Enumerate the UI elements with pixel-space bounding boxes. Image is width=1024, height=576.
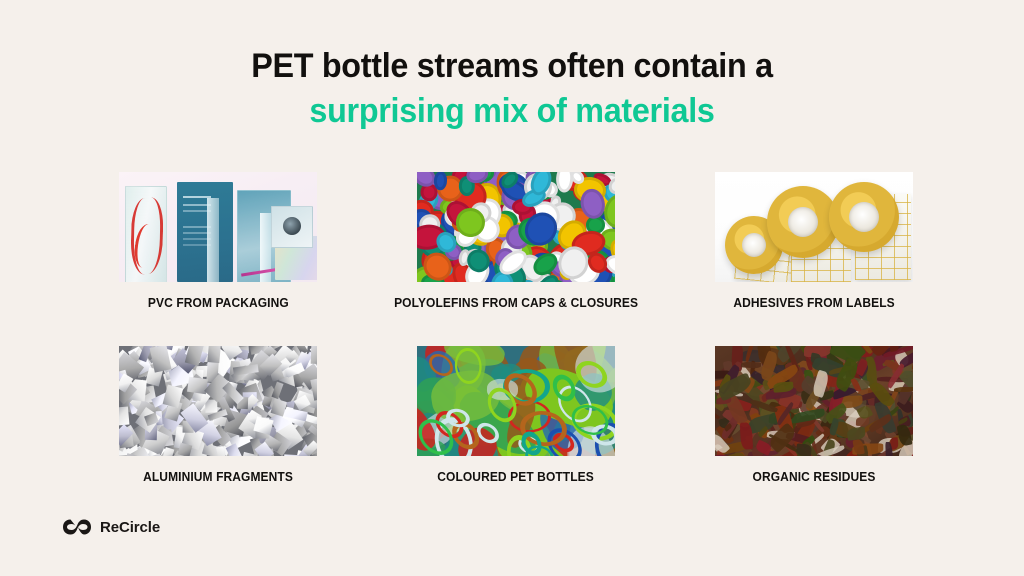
- title-line-2-accent: surprising mix of materials: [26, 89, 999, 134]
- grid-item-coloured-pet-bottles: COLOURED PET BOTTLES: [374, 346, 658, 490]
- pvc-packaging-photo: [119, 172, 317, 282]
- caption-organic-residues: ORGANIC RESIDUES: [753, 470, 876, 484]
- brand-logo: ReCircle: [62, 518, 160, 536]
- grid-item-polyolefins-from-caps-closures: POLYOLEFINS FROM CAPS & CLOSURES: [374, 172, 658, 316]
- title-line-1: PET bottle streams often contain a: [26, 44, 999, 89]
- caption-adhesives-from-labels: ADHESIVES FROM LABELS: [733, 296, 894, 310]
- page-title: PET bottle streams often contain a surpr…: [0, 44, 1024, 134]
- caption-aluminium-fragments: ALUMINIUM FRAGMENTS: [143, 470, 293, 484]
- infinity-loop-icon: [62, 518, 92, 536]
- grid-item-organic-residues: ORGANIC RESIDUES: [672, 346, 956, 490]
- caption-polyolefins-from-caps-closures: POLYOLEFINS FROM CAPS & CLOSURES: [394, 296, 638, 310]
- slide-canvas: PET bottle streams often contain a surpr…: [0, 0, 1024, 576]
- coloured-pet-bottles-photo: [417, 346, 615, 456]
- label-rolls-photo: [715, 172, 913, 282]
- caption-coloured-pet-bottles: COLOURED PET BOTTLES: [438, 470, 595, 484]
- contaminant-grid: PVC FROM PACKAGING POLYOLEFINS FROM CAPS…: [76, 172, 956, 490]
- grid-item-aluminium-fragments: ALUMINIUM FRAGMENTS: [76, 346, 360, 490]
- brand-logo-text: ReCircle: [100, 519, 160, 536]
- aluminium-fragments-photo: [119, 346, 317, 456]
- grid-item-pvc-from-packaging: PVC FROM PACKAGING: [76, 172, 360, 316]
- plastic-caps-photo: [417, 172, 615, 282]
- organic-residues-photo: [715, 346, 913, 456]
- grid-item-adhesives-from-labels: ADHESIVES FROM LABELS: [672, 172, 956, 316]
- caption-pvc-from-packaging: PVC FROM PACKAGING: [148, 296, 289, 310]
